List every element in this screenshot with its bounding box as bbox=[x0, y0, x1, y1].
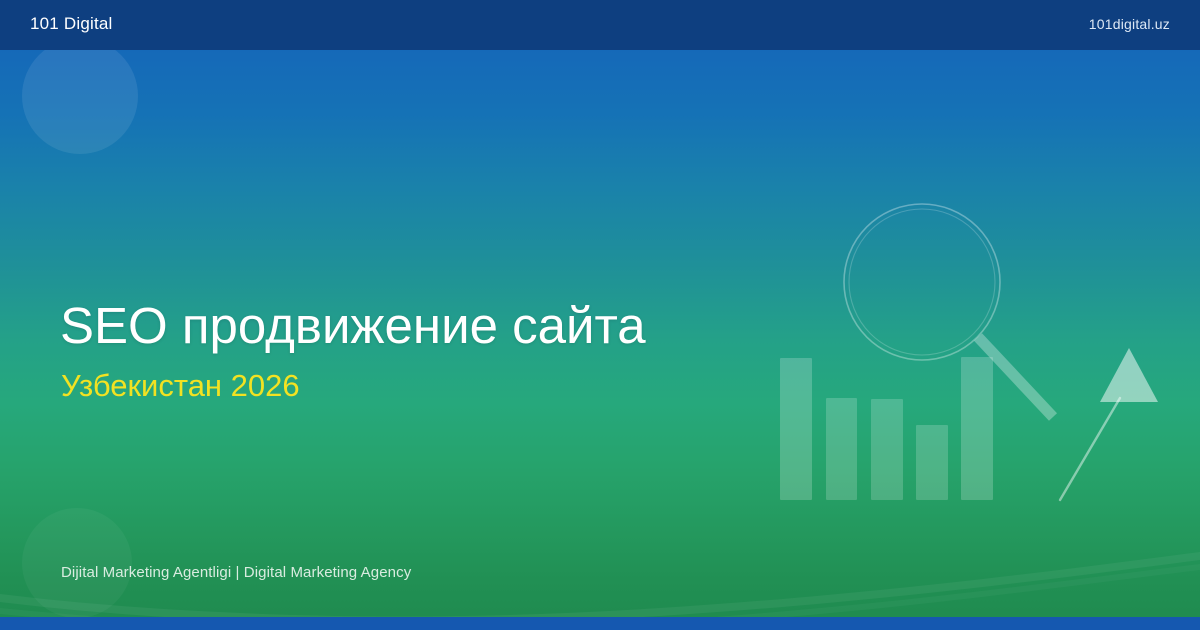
header-bar bbox=[0, 0, 1200, 50]
bar-chart-group bbox=[780, 357, 993, 500]
growth-arrow-icon bbox=[1060, 348, 1158, 500]
chart-bar bbox=[961, 357, 993, 500]
page-title: SEO продвижение сайта bbox=[60, 300, 646, 351]
bottom-accent-bar bbox=[0, 617, 1200, 630]
brand-name: 101 Digital bbox=[30, 14, 113, 34]
tagline: Dijital Marketing Agentligi | Digital Ma… bbox=[61, 564, 411, 581]
seo-illustration bbox=[760, 180, 1180, 520]
site-url: 101digital.uz bbox=[1089, 16, 1170, 32]
page-subtitle: Узбекистан 2026 bbox=[61, 370, 300, 401]
decorative-circle-bottom bbox=[22, 508, 132, 618]
chart-bar bbox=[826, 398, 857, 500]
seo-banner: 101 Digital 101digital.uz SEO продвижени… bbox=[0, 0, 1200, 630]
magnifying-glass-icon bbox=[844, 204, 1053, 417]
chart-bar bbox=[871, 399, 903, 500]
chart-bar bbox=[916, 425, 948, 500]
chart-bar bbox=[780, 358, 812, 500]
decorative-circle-top bbox=[22, 38, 138, 154]
